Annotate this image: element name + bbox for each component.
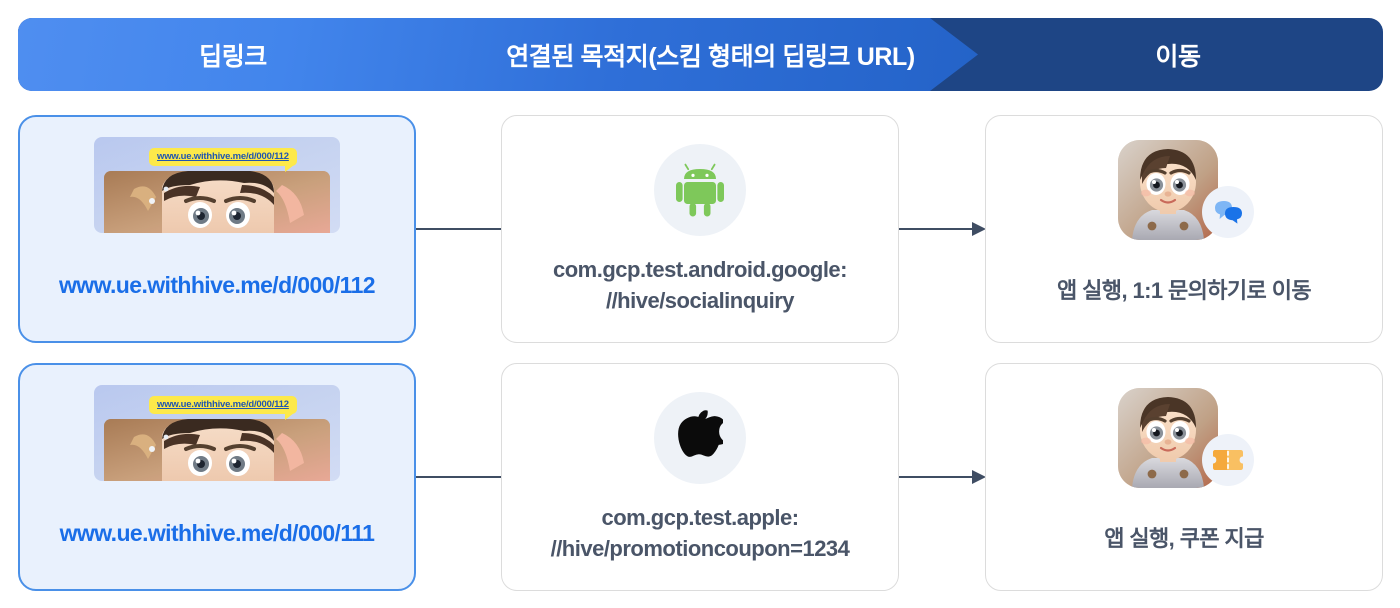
diagram-row: www.ue.withhive.me/d/000/112 www.ue.with…	[0, 363, 1400, 591]
character-face-illustration	[104, 171, 330, 233]
header-label-destination: 연결된 목적지(스킴 형태의 딥링크 URL)	[506, 37, 915, 73]
url-tooltip-text: www.ue.withhive.me/d/000/112	[157, 399, 289, 410]
action-badge	[1202, 186, 1254, 238]
header-column-move: 이동	[973, 18, 1383, 91]
coupon-ticket-icon	[1212, 449, 1244, 471]
connector-line	[416, 219, 502, 239]
header-label-deeplink: 딥링크	[199, 37, 267, 73]
platform-icon-circle	[654, 392, 746, 484]
platform-icon-circle	[654, 144, 746, 236]
action-card[interactable]: 앱 실행, 쿠폰 지급	[985, 363, 1383, 591]
deeplink-url-label: www.ue.withhive.me/d/000/112	[20, 272, 414, 299]
connector-arrow	[899, 219, 986, 239]
connector-line	[416, 467, 502, 487]
connector-line-stroke	[416, 228, 502, 230]
avatar-illustration	[1118, 140, 1218, 240]
diagram-row: www.ue.withhive.me/d/000/112 www.ue.with…	[0, 115, 1400, 343]
apple-icon	[677, 410, 723, 466]
url-tooltip: www.ue.withhive.me/d/000/112	[149, 396, 297, 414]
deeplink-thumbnail: www.ue.withhive.me/d/000/112	[94, 385, 340, 481]
header-ribbon: 딥링크 연결된 목적지(스킴 형태의 딥링크 URL) 이동	[18, 18, 1383, 91]
connector-arrow-stroke	[899, 228, 973, 230]
connector-line-stroke	[416, 476, 502, 478]
header-column-deeplink: 딥링크	[18, 18, 448, 91]
avatar	[1118, 140, 1218, 240]
arrow-head-icon	[972, 470, 986, 484]
scheme-card[interactable]: com.gcp.test.apple: //hive/promotioncoup…	[501, 363, 899, 591]
action-badge	[1202, 434, 1254, 486]
scheme-url-line2: //hive/socialinquiry	[606, 288, 794, 313]
deeplink-card[interactable]: www.ue.withhive.me/d/000/112 www.ue.with…	[18, 115, 416, 343]
avatar	[1118, 388, 1218, 488]
deeplink-url-label: www.ue.withhive.me/d/000/111	[20, 520, 414, 547]
character-photo	[104, 419, 330, 481]
arrow-head-icon	[972, 222, 986, 236]
avatar-group	[1114, 388, 1254, 488]
action-label: 앱 실행, 쿠폰 지급	[996, 521, 1372, 553]
deeplink-card[interactable]: www.ue.withhive.me/d/000/112 www.ue.with…	[18, 363, 416, 591]
scheme-url-line2: //hive/promotioncoupon=1234	[551, 536, 850, 561]
character-face-illustration	[104, 419, 330, 481]
avatar-group	[1114, 140, 1254, 240]
scheme-card[interactable]: com.gcp.test.android.google: //hive/soci…	[501, 115, 899, 343]
header-column-destination: 연결된 목적지(스킴 형태의 딥링크 URL)	[448, 18, 973, 91]
scheme-url-text: com.gcp.test.apple: //hive/promotioncoup…	[518, 502, 882, 564]
scheme-url-line1: com.gcp.test.android.google:	[553, 257, 847, 282]
avatar-illustration	[1118, 388, 1218, 488]
scheme-url-text: com.gcp.test.android.google: //hive/soci…	[518, 254, 882, 316]
deeplink-thumbnail: www.ue.withhive.me/d/000/112	[94, 137, 340, 233]
connector-arrow	[899, 467, 986, 487]
url-tooltip-text: www.ue.withhive.me/d/000/112	[157, 151, 289, 162]
connector-arrow-stroke	[899, 476, 973, 478]
character-photo	[104, 171, 330, 233]
scheme-url-line1: com.gcp.test.apple:	[601, 505, 798, 530]
chat-bubble-icon	[1213, 200, 1243, 224]
deeplink-flow-diagram: 딥링크 연결된 목적지(스킴 형태의 딥링크 URL) 이동	[0, 0, 1400, 608]
action-label: 앱 실행, 1:1 문의하기로 이동	[996, 273, 1372, 305]
header-label-move: 이동	[1155, 37, 1200, 73]
action-card[interactable]: 앱 실행, 1:1 문의하기로 이동	[985, 115, 1383, 343]
url-tooltip: www.ue.withhive.me/d/000/112	[149, 148, 297, 166]
android-icon	[675, 162, 725, 218]
